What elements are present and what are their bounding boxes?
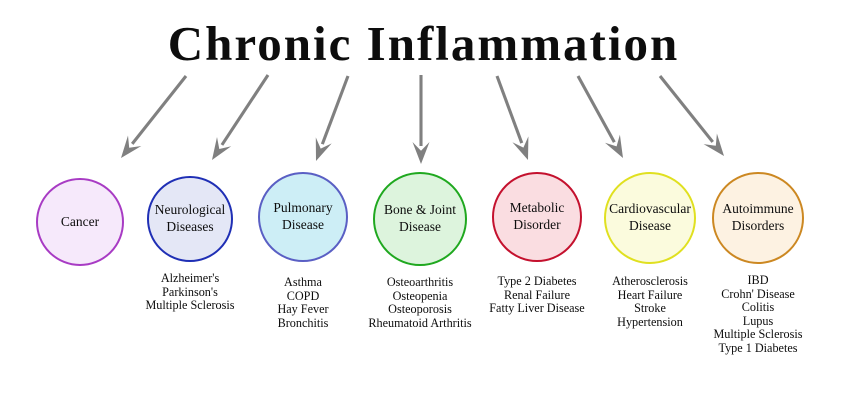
bubble-label-autoimmune: Autoimmune Disorders [714, 201, 802, 235]
bubble-neurological[interactable]: Neurological Diseases [147, 176, 233, 262]
list-item: Lupus [628, 315, 847, 329]
arrow-to-bone-joint [413, 75, 430, 164]
list-item: Colitis [628, 301, 847, 315]
bubble-label-neurological: Neurological Diseases [149, 202, 231, 236]
list-item: Crohn' Disease [628, 288, 847, 302]
list-item: Multiple Sclerosis [628, 328, 847, 342]
bubble-label-metabolic: Metabolic Disorder [494, 200, 580, 234]
list-item: Rheumatoid Arthritis [290, 317, 550, 331]
diagram-canvas: Chronic Inflammation CancerNeurological … [0, 0, 847, 400]
bubble-pulmonary[interactable]: Pulmonary Disease [258, 172, 348, 262]
page-title: Chronic Inflammation [0, 18, 847, 69]
arrow-to-autoimmune [660, 76, 724, 156]
bubble-autoimmune[interactable]: Autoimmune Disorders [712, 172, 804, 264]
bubble-label-cancer: Cancer [57, 214, 103, 231]
list-item: IBD [628, 274, 847, 288]
arrow-to-pulmonary [316, 76, 348, 161]
bubble-bone-joint[interactable]: Bone & Joint Disease [373, 172, 467, 266]
bubble-label-pulmonary: Pulmonary Disease [260, 200, 346, 234]
item-list-autoimmune: IBDCrohn' DiseaseColitisLupusMultiple Sc… [628, 274, 847, 356]
bubble-cardiovascular[interactable]: Cardiovascular Disease [604, 172, 696, 264]
bubble-cancer[interactable]: Cancer [36, 178, 124, 266]
bubble-label-cardiovascular: Cardiovascular Disease [605, 201, 695, 235]
list-item: Type 1 Diabetes [628, 342, 847, 356]
bubble-metabolic[interactable]: Metabolic Disorder [492, 172, 582, 262]
arrow-to-cancer [121, 76, 186, 158]
bubble-label-bone-joint: Bone & Joint Disease [375, 202, 465, 236]
arrow-to-neurological [212, 75, 268, 160]
arrow-to-cardiovascular [578, 76, 623, 158]
arrow-to-metabolic [497, 76, 528, 160]
